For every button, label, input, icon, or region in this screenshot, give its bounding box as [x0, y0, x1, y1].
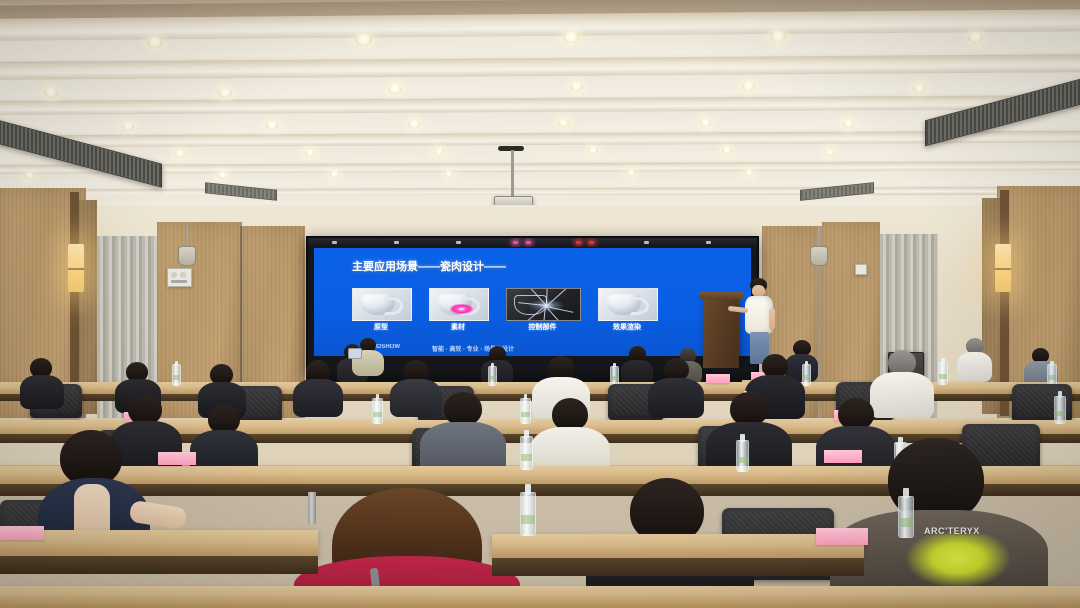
ceiling-downlight [305, 149, 315, 157]
plaque-line [171, 280, 187, 283]
led-screen-display: 主要应用场景——瓷肉设计—— 原型 素材 [314, 248, 751, 356]
ceiling-downlight [913, 84, 926, 93]
water-bottle [802, 364, 811, 386]
ceiling-downlight [570, 82, 583, 91]
water-bottle [520, 436, 533, 470]
attendee-body [20, 375, 64, 409]
ceiling-downlight [722, 147, 732, 154]
ceiling-downlight [627, 170, 635, 176]
spark-graphic [526, 298, 567, 313]
strip-light [644, 241, 649, 244]
desk-paper [824, 450, 862, 463]
ceiling-downlight [25, 172, 34, 179]
attendee-head [444, 392, 482, 426]
podium-top-surface [699, 292, 743, 299]
wall-sconce-divider [995, 268, 1011, 270]
ceiling-downlight [266, 121, 278, 130]
pink-flare-graphic [450, 304, 473, 315]
attendee-body-white-shirt [957, 352, 992, 382]
ceiling-downlight [563, 32, 579, 43]
plaque-dot [180, 272, 186, 278]
arcteryx-logo-graphic [906, 534, 1010, 588]
cup-handle [383, 297, 403, 315]
ceiling-downlight [330, 171, 339, 178]
ceiling-downlight [147, 37, 163, 48]
attendee-body [390, 379, 442, 417]
ceiling-downlight [122, 122, 134, 131]
ceiling-downlight [745, 170, 753, 176]
ceiling-downlight [218, 88, 232, 98]
attendee-body [293, 379, 343, 417]
water-bottle [938, 362, 948, 385]
strip-light [332, 241, 337, 244]
ceiling-downlight [175, 150, 185, 158]
slide-thumbnail-3 [506, 288, 581, 321]
water-bottle [520, 398, 531, 424]
projector-pole [511, 150, 514, 198]
attendee-body-white-shirt [870, 372, 934, 418]
slide-thumbnail-4 [598, 288, 658, 321]
slide-thumbnail-caption-2: 素材 [429, 322, 487, 332]
strip-light [456, 241, 461, 244]
strip-light [706, 241, 711, 244]
audience-desk-row-4-right [492, 534, 864, 560]
slide-title: 主要应用场景——瓷肉设计—— [352, 258, 506, 274]
slide-thumbnail-2 [429, 288, 489, 321]
attendee-head [730, 392, 768, 426]
phone-icon [348, 348, 362, 359]
ceiling-downlight [388, 84, 402, 94]
ceiling-downlight [588, 147, 598, 154]
ceiling-downlight [770, 31, 786, 42]
strip-light [394, 241, 399, 244]
desk-paper [0, 526, 44, 540]
presenter-arm-right [769, 308, 775, 330]
ceiling-downlight [355, 34, 372, 46]
audience-desk-foreground [0, 586, 1080, 608]
water-bottle [736, 440, 749, 472]
water-bottle [172, 364, 181, 386]
attendee-body [648, 378, 704, 418]
ceiling-downlight [434, 148, 444, 155]
screen-top-light-strip [308, 238, 757, 247]
water-bottle [372, 398, 383, 424]
desk-leg [308, 492, 316, 524]
desk-paper [706, 374, 730, 383]
wall-plaque-right [855, 264, 867, 275]
ceiling-downlight [558, 119, 569, 127]
ceiling-downlight [742, 82, 755, 91]
strip-light-red [589, 241, 594, 244]
plaque-dot [171, 272, 177, 278]
desk-front-edge-row-4-left [0, 556, 318, 574]
ceiling-downlight [700, 119, 711, 127]
water-bottle [1047, 364, 1057, 386]
ceiling-downlight [843, 120, 854, 128]
water-bottle [488, 366, 497, 386]
speaker-stem-right [818, 228, 820, 248]
slide-thumbnail-caption-4: 效果渲染 [598, 322, 656, 332]
cup-handle [629, 297, 649, 315]
desk-front-edge-row-4-right [492, 558, 864, 576]
audience-desk-row-4-left [0, 530, 318, 558]
conference-hall-scene: 主要应用场景——瓷肉设计—— 原型 素材 [0, 0, 1080, 608]
water-bottle [610, 366, 619, 386]
slide-thumbnail-caption-1: 原型 [352, 322, 410, 332]
ceiling-downlight [218, 172, 227, 179]
ceiling-downlight [44, 88, 58, 98]
ceiling-downlight [408, 120, 420, 129]
desk-paper [816, 528, 868, 545]
wall-plaque-left [167, 268, 192, 287]
strip-light-red [576, 241, 581, 244]
ceiling-downlight [968, 32, 983, 43]
water-bottle [520, 492, 536, 536]
slide-thumbnail-caption-3: 控制部件 [506, 322, 579, 332]
ceiling-downlight [825, 149, 834, 156]
desk-paper [158, 452, 196, 465]
wall-sconce-divider [68, 268, 84, 270]
strip-light-pink [526, 241, 531, 244]
ceiling [0, 0, 1080, 232]
strip-light-pink [513, 241, 518, 244]
water-bottle [1054, 396, 1066, 424]
ceiling-speaker-left [178, 246, 196, 266]
speaker-stem-left [186, 226, 188, 248]
water-bottle [898, 496, 914, 538]
ceiling-speaker-right [810, 246, 828, 266]
slide-thumbnail-1 [352, 288, 412, 321]
ceiling-downlight [445, 171, 453, 177]
